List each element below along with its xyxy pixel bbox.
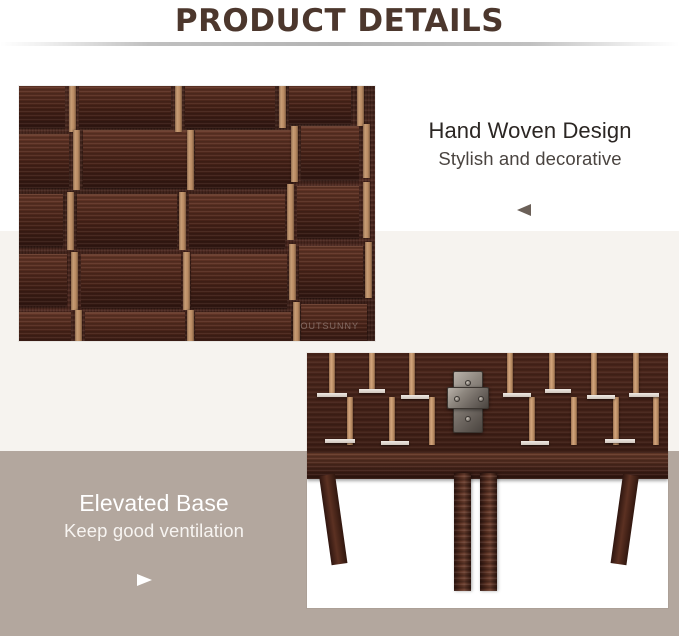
- weave-tie: [365, 242, 372, 298]
- weave-slat: [19, 86, 65, 128]
- weave-slat: [289, 86, 351, 124]
- weave-slat: [297, 186, 359, 238]
- right-arrow-icon: [137, 574, 152, 586]
- hinge-screw: [454, 396, 460, 402]
- weave-slat: [189, 194, 285, 248]
- weave-tie: [279, 86, 286, 128]
- weave-gap: [381, 441, 409, 445]
- weave-tie: [75, 310, 82, 341]
- weave-gap: [605, 439, 635, 443]
- weave-tie: [409, 353, 415, 395]
- weave-tie: [429, 397, 435, 445]
- weave-slat: [191, 254, 287, 308]
- weave-gap: [359, 389, 385, 393]
- weave-slat: [19, 194, 63, 246]
- header-divider: [0, 42, 679, 46]
- photo-hinge-elevated-base: [307, 353, 668, 608]
- weave-tie: [183, 252, 190, 310]
- weave-slat: [81, 254, 181, 308]
- weave-slat: [83, 130, 187, 188]
- weave-tie: [287, 184, 294, 240]
- weave-tie: [633, 353, 639, 395]
- weave-slat: [19, 254, 67, 306]
- weave-tie: [613, 397, 619, 445]
- weave-tie: [291, 126, 298, 182]
- left-arrow-icon: [517, 204, 531, 216]
- photo-woven-texture-closeup: OUTSUNNY: [19, 86, 375, 341]
- weave-gap: [629, 393, 659, 397]
- support-leg-center-right: [480, 473, 497, 591]
- weave-tie: [549, 353, 555, 389]
- callout-elevated-base: Elevated Base Keep good ventilation: [16, 489, 292, 542]
- weave-gap: [503, 393, 531, 397]
- weave-slat: [79, 86, 171, 128]
- callout-subtitle: Keep good ventilation: [16, 519, 292, 542]
- weave-slat: [185, 86, 275, 128]
- callout-subtitle: Stylish and decorative: [399, 147, 661, 170]
- hinge-plate-horizontal: [447, 387, 489, 409]
- callout-title: Hand Woven Design: [399, 118, 661, 145]
- weave-tie: [529, 397, 535, 445]
- weave-slat: [85, 312, 185, 341]
- hinge-screw: [465, 416, 471, 422]
- weave-slat: [299, 246, 363, 298]
- weave-tie: [507, 353, 513, 395]
- weave-slat: [19, 312, 71, 341]
- weave-gap: [521, 441, 549, 445]
- page-title: PRODUCT DETAILS: [175, 6, 504, 39]
- support-leg-outer-right: [611, 474, 639, 565]
- weave-gap: [325, 439, 355, 443]
- weave-tie: [653, 397, 659, 445]
- product-details-page: PRODUCT DETAILS: [0, 0, 679, 636]
- weave-tie: [67, 192, 74, 250]
- callout-title: Elevated Base: [16, 489, 292, 517]
- weave-tie: [73, 130, 80, 190]
- weave-gap: [587, 395, 615, 399]
- weave-tie: [293, 302, 300, 341]
- weave-tie: [289, 244, 296, 300]
- weave-tie: [591, 353, 597, 395]
- weave-gap: [545, 389, 571, 393]
- weave-tie: [71, 252, 78, 310]
- weave-tie: [179, 192, 186, 250]
- weave-slat: [301, 126, 359, 180]
- hinge-screw: [478, 396, 484, 402]
- weave-tie: [363, 124, 370, 178]
- weave-gap: [317, 393, 347, 397]
- weave-tie: [363, 182, 370, 238]
- weave-tie: [389, 397, 395, 445]
- hinge-screw: [465, 380, 471, 386]
- weave-tie: [369, 353, 375, 389]
- weave-slat: [19, 134, 69, 188]
- weave-tie: [187, 130, 194, 190]
- weave-tie: [69, 86, 76, 132]
- weave-tie: [175, 86, 182, 132]
- weave-gap: [401, 395, 429, 399]
- support-leg-outer-left: [319, 474, 347, 565]
- weave-tie: [187, 310, 194, 341]
- support-leg-center-left: [454, 473, 471, 591]
- weave-tie: [357, 86, 364, 126]
- weave-tie: [329, 353, 335, 395]
- page-header: PRODUCT DETAILS: [0, 0, 679, 44]
- weave-tie: [347, 397, 353, 445]
- weave-tie: [571, 397, 577, 445]
- weave-slat: [195, 130, 291, 188]
- weave-slat: [77, 194, 177, 248]
- photo-watermark: OUTSUNNY: [300, 321, 359, 331]
- callout-hand-woven-design: Hand Woven Design Stylish and decorative: [399, 118, 661, 170]
- weave-slat: [195, 312, 291, 341]
